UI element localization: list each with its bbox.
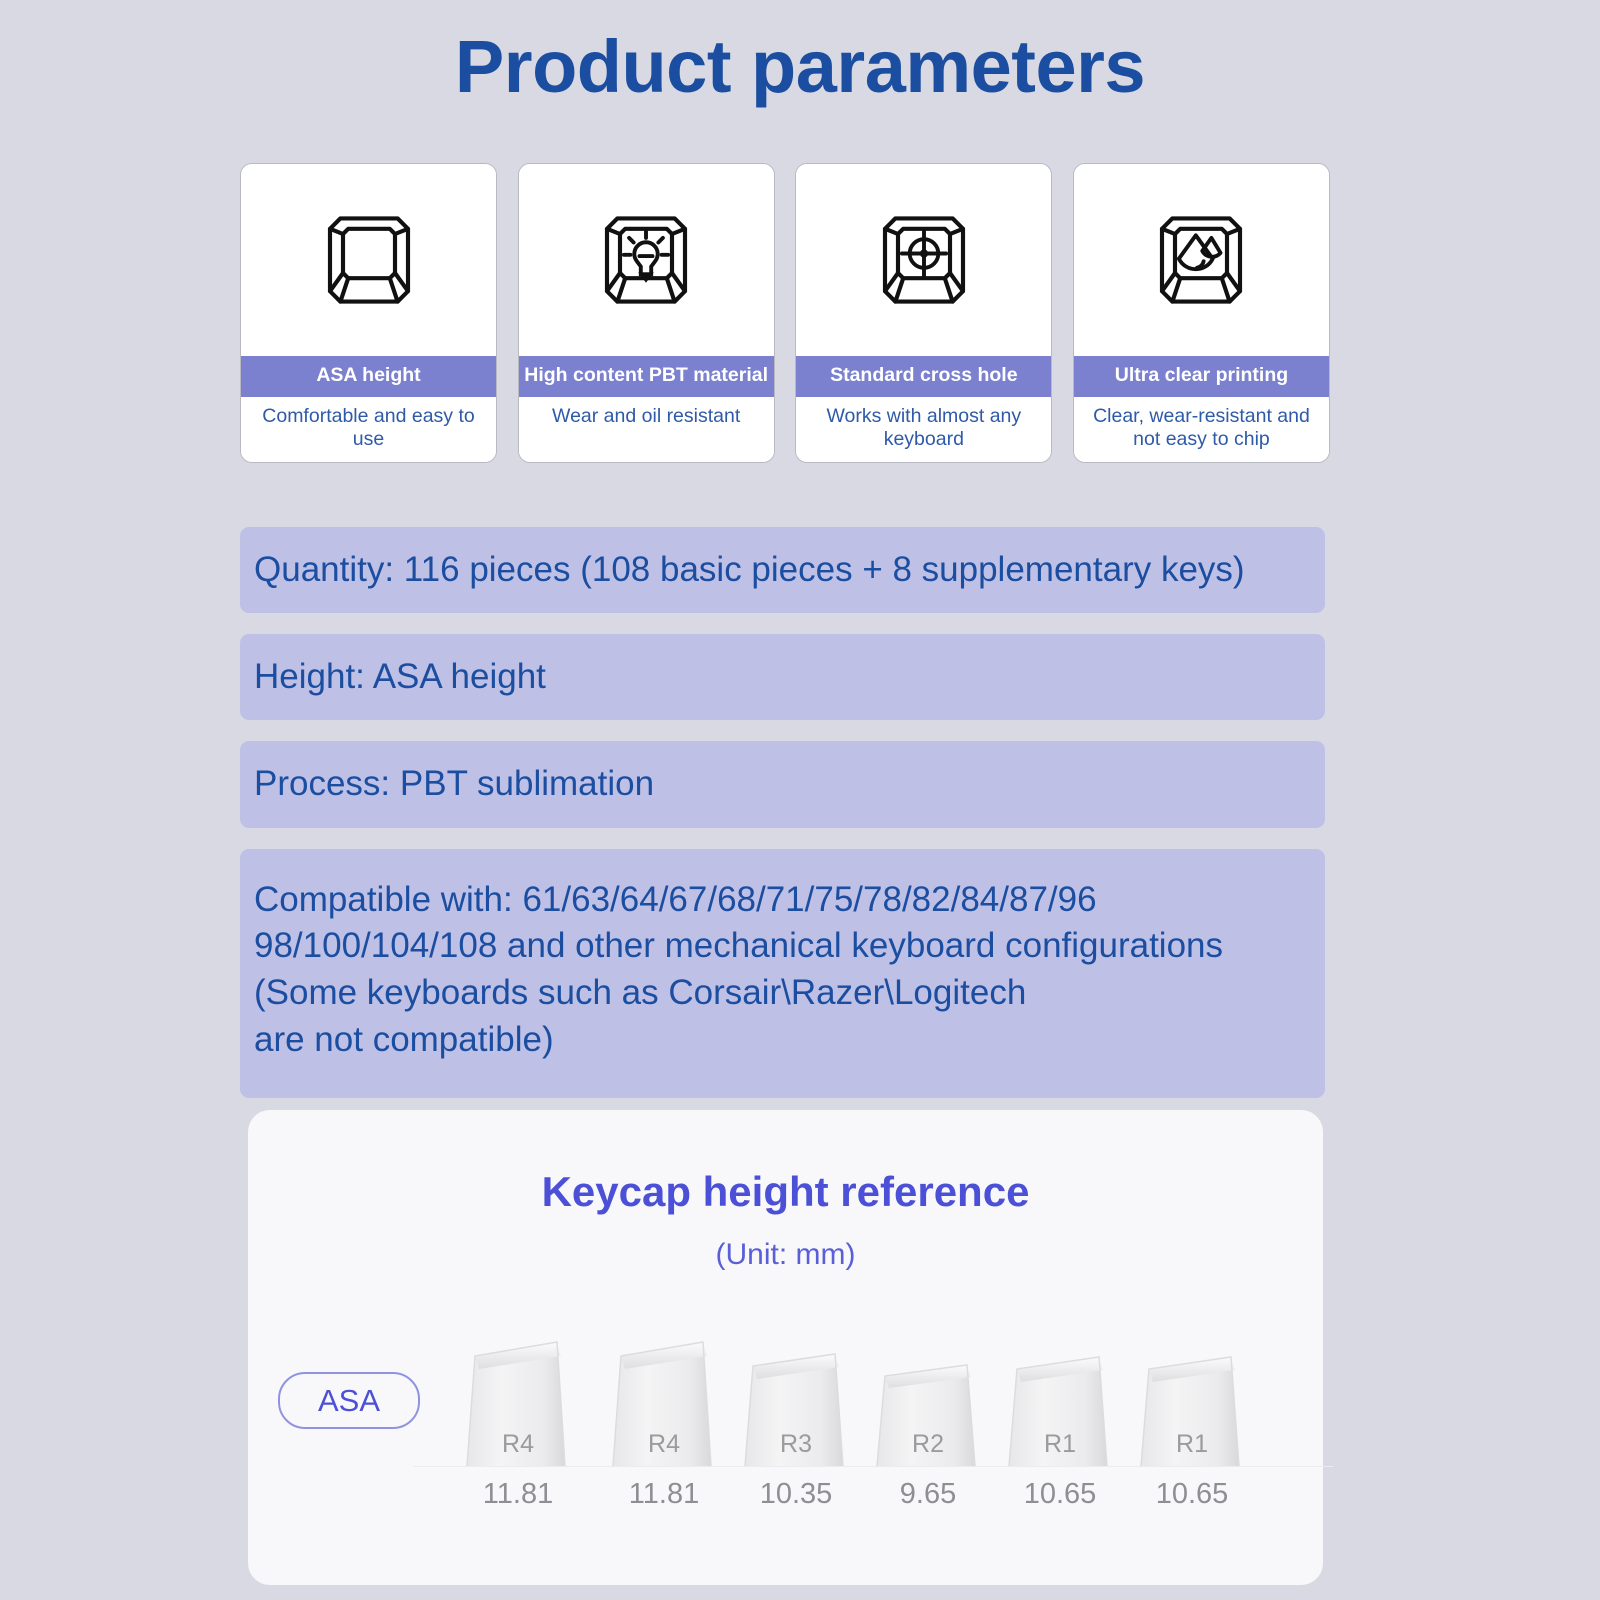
panel-subtitle: (Unit: mm) xyxy=(248,1238,1323,1272)
feature-card-description: Wear and oil resistant xyxy=(519,397,774,462)
spec-line: Height: ASA height xyxy=(254,654,1325,700)
feature-card-title: ASA height xyxy=(241,356,496,397)
spec-line: Compatible with: 61/63/64/67/68/71/75/78… xyxy=(254,877,1325,924)
keycap-row-label: R1 xyxy=(1127,1430,1257,1459)
spec-row-process: Process: PBT sublimation xyxy=(240,741,1325,827)
spec-list: Quantity: 116 pieces (108 basic pieces +… xyxy=(240,527,1325,1119)
keycap-height-reference-panel: Keycap height reference (Unit: mm) ASA xyxy=(248,1110,1323,1585)
keycap-height-value: 10.35 xyxy=(731,1478,861,1511)
keycap-item: R1 10.65 xyxy=(995,1344,1125,1511)
keycap-shape: R4 xyxy=(453,1326,583,1471)
feature-card-asa-height[interactable]: ASA height Comfortable and easy to use xyxy=(240,163,497,463)
keycap-shape: R1 xyxy=(995,1344,1125,1471)
keycap-height-value: 9.65 xyxy=(863,1478,993,1511)
keycap-item: R4 11.81 xyxy=(453,1326,583,1511)
feature-card-description: Works with almost any keyboard xyxy=(796,397,1051,462)
keycap-profile-row: R4 11.81 R4 11.81 xyxy=(453,1310,1303,1525)
panel-title: Keycap height reference xyxy=(248,1168,1323,1216)
feature-card-pbt-material[interactable]: High content PBT material Wear and oil r… xyxy=(518,163,775,463)
spec-line: Quantity: 116 pieces (108 basic pieces +… xyxy=(254,547,1325,593)
feature-card-description: Clear, wear-resistant and not easy to ch… xyxy=(1074,397,1329,462)
keycap-crosshair-icon xyxy=(796,164,1051,356)
keycap-height-value: 10.65 xyxy=(995,1478,1125,1511)
keycap-height-value: 11.81 xyxy=(599,1478,729,1511)
keycap-item: R3 10.35 xyxy=(731,1340,861,1511)
keycap-height-value: 11.81 xyxy=(453,1478,583,1511)
keycap-shape: R4 xyxy=(599,1326,729,1471)
keycap-shape: R1 xyxy=(1127,1344,1257,1471)
feature-card-clear-printing[interactable]: Ultra clear printing Clear, wear-resista… xyxy=(1073,163,1330,463)
profile-badge-asa: ASA xyxy=(278,1372,420,1429)
keycap-item: R1 10.65 xyxy=(1127,1344,1257,1511)
keycap-row-label: R3 xyxy=(731,1430,861,1459)
keycap-row-label: R4 xyxy=(599,1430,729,1459)
feature-card-description: Comfortable and easy to use xyxy=(241,397,496,462)
keycap-row-label: R4 xyxy=(453,1430,583,1459)
keycap-row-label: R2 xyxy=(863,1430,993,1459)
keycap-height-value: 10.65 xyxy=(1127,1478,1257,1511)
keycap-item: R4 11.81 xyxy=(599,1326,729,1511)
spec-row-compatibility: Compatible with: 61/63/64/67/68/71/75/78… xyxy=(240,849,1325,1099)
keycap-lightbulb-icon xyxy=(519,164,774,356)
feature-card-title: Standard cross hole xyxy=(796,356,1051,397)
keycap-blank-icon xyxy=(241,164,496,356)
spec-row-quantity: Quantity: 116 pieces (108 basic pieces +… xyxy=(240,527,1325,613)
feature-card-cross-hole[interactable]: Standard cross hole Works with almost an… xyxy=(795,163,1052,463)
spec-line: (Some keyboards such as Corsair\Razer\Lo… xyxy=(254,970,1325,1017)
keycap-row-label: R1 xyxy=(995,1430,1125,1459)
keycap-shape: R3 xyxy=(731,1340,861,1471)
spec-line: 98/100/104/108 and other mechanical keyb… xyxy=(254,923,1325,970)
spec-line: are not compatible) xyxy=(254,1017,1325,1064)
feature-cards-row: ASA height Comfortable and easy to use xyxy=(240,163,1330,463)
keycap-waterdrop-icon xyxy=(1074,164,1329,356)
spec-row-height: Height: ASA height xyxy=(240,634,1325,720)
page-title: Product parameters xyxy=(0,24,1600,109)
feature-card-title: High content PBT material xyxy=(519,356,774,397)
feature-card-title: Ultra clear printing xyxy=(1074,356,1329,397)
keycap-item: R2 9.65 xyxy=(863,1352,993,1511)
keycap-shape: R2 xyxy=(863,1352,993,1471)
spec-line: Process: PBT sublimation xyxy=(254,761,1325,807)
